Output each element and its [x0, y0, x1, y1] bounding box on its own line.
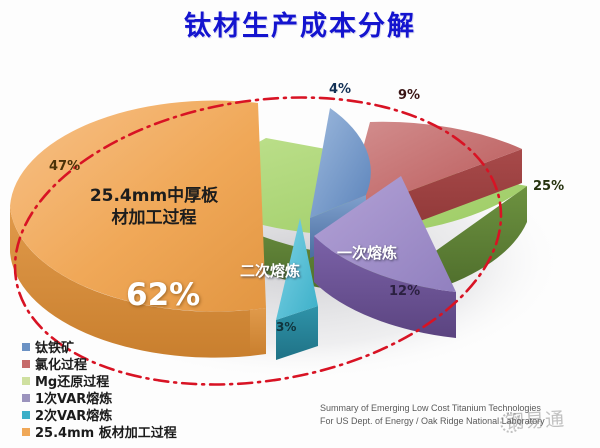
legend-label-plate: 25.4mm 板材加工过程	[35, 422, 177, 441]
watermark-ring-icon	[499, 411, 521, 433]
legend-item-ilmenite[interactable]: 钛铁矿	[22, 338, 177, 355]
slice-plate-front-face	[250, 308, 266, 356]
legend-swatch-icon-ilmenite	[22, 343, 30, 351]
legend-swatch-icon-plate	[22, 428, 30, 436]
legend-item-var2[interactable]: 2次VAR熔炼	[22, 406, 177, 423]
legend-item-plate[interactable]: 25.4mm 板材加工过程	[22, 423, 177, 440]
page-title: 钛材生产成本分解	[0, 4, 600, 43]
chart-legend: 钛铁矿 氯化过程 Mg还原过程 1次VAR熔炼 2次VAR熔炼 25.4mm 板…	[22, 338, 177, 440]
legend-item-var1[interactable]: 1次VAR熔炼	[22, 389, 177, 406]
legend-swatch-icon-chlorination	[22, 360, 30, 368]
legend-swatch-icon-mg-reduction	[22, 377, 30, 385]
legend-item-mg-reduction[interactable]: Mg还原过程	[22, 372, 177, 389]
slide-canvas: 钛材生产成本分解	[0, 0, 600, 448]
slice-plate[interactable]	[10, 101, 266, 358]
legend-item-chlorination[interactable]: 氯化过程	[22, 355, 177, 372]
legend-swatch-icon-var1	[22, 394, 30, 402]
legend-swatch-icon-var2	[22, 411, 30, 419]
